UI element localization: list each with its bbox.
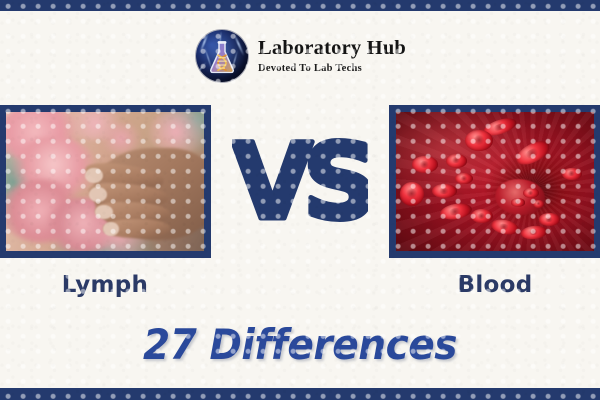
fingernail (85, 168, 103, 183)
fingernail (103, 222, 119, 236)
bottom-accent-bar (0, 388, 600, 400)
skin-rash-arm-photo (6, 112, 204, 251)
red-blood-cell (446, 154, 468, 168)
vs-label: VS (232, 124, 368, 240)
left-image-label: Lymph (0, 272, 211, 298)
red-blood-cell (412, 156, 438, 173)
red-blood-cells-vessel-photo (396, 112, 594, 251)
top-accent-bar (0, 0, 600, 11)
red-blood-cell (523, 188, 539, 198)
brand-text-block: Laboratory Hub Devoted To Lab Techs (258, 38, 406, 74)
red-blood-cell (562, 168, 582, 181)
headline-block: 27 Differences (0, 316, 600, 372)
flask-dna-glyph (207, 40, 237, 73)
left-image-frame (0, 105, 211, 258)
brand-title: Laboratory Hub (258, 38, 406, 60)
poster-canvas: Laboratory Hub Devoted To Lab Techs (0, 0, 600, 400)
brand-tagline: Devoted To Lab Techs (258, 63, 406, 74)
headline-label: 27 Differences (143, 320, 457, 370)
red-blood-cell (465, 130, 493, 151)
headline-text: 27 Differences (120, 316, 480, 372)
right-image-label: Blood (389, 272, 600, 298)
blood-cell-cluster (495, 179, 545, 215)
versus-badge: VS (232, 124, 368, 240)
red-blood-cell (511, 198, 525, 206)
red-blood-cell (539, 213, 561, 226)
right-image-frame (389, 105, 600, 258)
lab-flask-dna-lightning-logo-icon (196, 30, 248, 82)
vs-text: VS (232, 124, 368, 240)
brand-header: Laboratory Hub Devoted To Lab Techs (196, 28, 426, 84)
fingernail (95, 205, 113, 219)
